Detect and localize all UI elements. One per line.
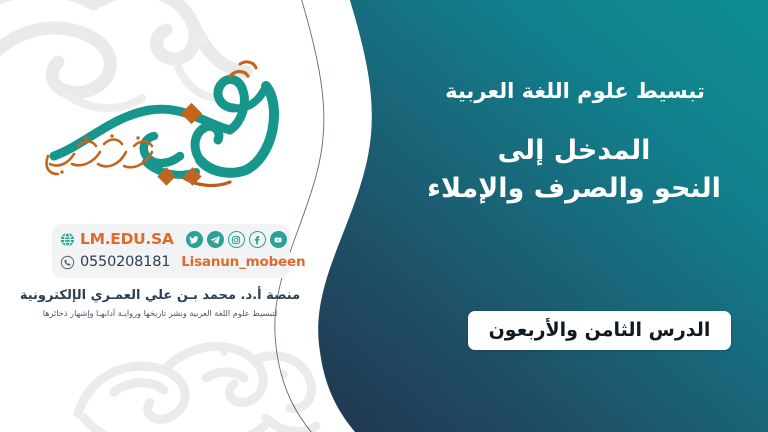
lesson-badge-label: الدرس الثامن والأربعون (489, 321, 711, 340)
platform-name: منصة أ.د. محمد بـن علي العمـري الإلكترون… (0, 288, 320, 304)
logo-mobeen (34, 52, 296, 200)
phone-number[interactable]: 0550208181 (80, 255, 170, 270)
panel-shape (318, 0, 768, 432)
twitter-icon[interactable] (186, 231, 203, 248)
youtube-icon[interactable] (270, 231, 287, 248)
panel-title-line-1: المدخل إلى (398, 132, 750, 170)
panel-eyebrow: تبسيط علوم اللغة العربية (400, 78, 750, 104)
watermark-calligraphy-bottom (18, 322, 348, 432)
contact-row-website: LM.EDU.SA (60, 229, 281, 251)
facebook-icon[interactable] (249, 231, 266, 248)
whatsapp-icon (60, 255, 75, 270)
panel-title-line-2: النحو والصرف والإملاء (398, 170, 750, 208)
social-handle[interactable]: Lisanun_mobeen (181, 256, 305, 270)
website-url[interactable]: LM.EDU.SA (80, 232, 174, 248)
contact-row-phone: 0550208181 Lisanun_mobeen (60, 252, 281, 274)
lesson-badge[interactable]: الدرس الثامن والأربعون (468, 311, 731, 350)
slide-canvas: LM.EDU.SA (0, 0, 768, 432)
social-links (186, 231, 287, 248)
platform-tagline: لتبسيط علوم اللغة العربية ونشر تاريخها و… (0, 308, 320, 319)
globe-icon (60, 232, 75, 247)
contact-info-pill: LM.EDU.SA (52, 224, 290, 278)
telegram-icon[interactable] (207, 231, 224, 248)
instagram-icon[interactable] (228, 231, 245, 248)
panel-title: المدخل إلى النحو والصرف والإملاء (398, 132, 750, 209)
